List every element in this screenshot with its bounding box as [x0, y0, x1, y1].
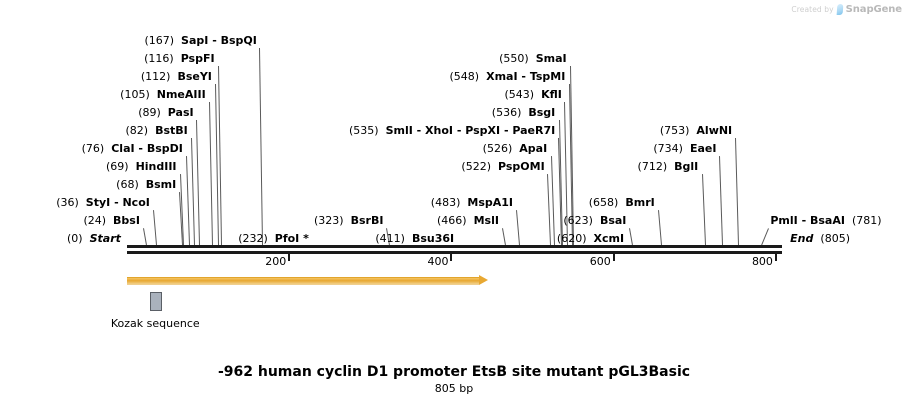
enzyme-name: XmaI — [486, 70, 517, 83]
enzyme-name: BsrBI — [351, 214, 384, 227]
enzyme-name: ApaI — [519, 142, 547, 155]
enzyme-name: TspMI — [530, 70, 566, 83]
site-label-PfoI[interactable]: (232) PfoI * — [238, 233, 309, 245]
site-connector-line — [209, 102, 213, 245]
ruler-tick-600 — [613, 254, 615, 261]
site-position: (712) — [638, 160, 668, 173]
site-label-ApaI[interactable]: (526) ApaI — [483, 143, 548, 155]
enzyme-name: BsgI — [528, 106, 555, 119]
enzyme-name: HindIII — [136, 160, 177, 173]
enzyme-name: ClaI — [111, 142, 134, 155]
enzyme-name: PasI — [168, 106, 194, 119]
name-separator: - — [518, 70, 530, 83]
sequence-map-canvas: Created by SnapGene (0) Start(24) BbsI(3… — [0, 0, 908, 404]
backbone-line-lower — [127, 251, 782, 254]
enzyme-name: BmrI — [625, 196, 654, 209]
enzyme-name: SmlI — [386, 124, 413, 137]
enzyme-name: BglI — [674, 160, 698, 173]
name-separator: - — [413, 124, 425, 137]
site-position: (0) — [67, 232, 83, 245]
enzyme-name: BsaI — [600, 214, 626, 227]
site-position: (116) — [144, 52, 174, 65]
enzyme-name: MspA1I — [467, 196, 513, 209]
site-connector-line — [629, 228, 633, 245]
enzyme-name: PmlI — [770, 214, 797, 227]
map-subtitle: 805 bp — [0, 382, 908, 395]
site-label-AlwNI[interactable]: (753) AlwNI — [660, 125, 732, 137]
site-label-SmlI[interactable]: (535) SmlI - XhoI - PspXI - PaeR7I — [349, 125, 555, 137]
site-position: (623) — [563, 214, 593, 227]
enzyme-name: BspDI — [147, 142, 183, 155]
enzyme-name: XhoI — [425, 124, 453, 137]
site-label-BstBI[interactable]: (82) BstBI — [126, 125, 188, 137]
site-label-SmaI[interactable]: (550) SmaI — [499, 53, 567, 65]
site-label-MspA1I[interactable]: (483) MspA1I — [431, 197, 513, 209]
enzyme-name: MslI — [474, 214, 499, 227]
enzyme-name: SmaI — [536, 52, 567, 65]
site-position: (805) — [820, 232, 850, 245]
site-label-NmeAIII[interactable]: (105) NmeAIII — [120, 89, 206, 101]
name-separator: - — [500, 124, 512, 137]
site-connector-line — [191, 138, 195, 245]
ruler-label-400: 400 — [427, 255, 448, 268]
site-label-PspFI[interactable]: (116) PspFI — [144, 53, 215, 65]
enzyme-name: PspOMI — [498, 160, 545, 173]
site-label-BsaI[interactable]: (623) BsaI — [563, 215, 626, 227]
enzyme-name: SapI — [181, 34, 208, 47]
site-connector-line — [551, 156, 555, 245]
enzyme-name: NmeAIII — [157, 88, 206, 101]
enzyme-name: PaeR7I — [512, 124, 555, 137]
enzyme-name: KflI — [541, 88, 562, 101]
site-connector-line — [196, 120, 200, 245]
site-connector-line — [516, 210, 520, 245]
site-position: (36) — [56, 196, 79, 209]
name-separator: - — [110, 196, 122, 209]
snapgene-watermark: Created by SnapGene — [791, 4, 902, 15]
enzyme-name: StyI — [86, 196, 110, 209]
enzyme-name: BsaAI — [810, 214, 845, 227]
site-position: (105) — [120, 88, 150, 101]
enzyme-name: XcmI — [594, 232, 625, 245]
site-position: (658) — [589, 196, 619, 209]
site-position: (68) — [116, 178, 139, 191]
site-position: (167) — [144, 34, 174, 47]
site-position: (232) — [238, 232, 268, 245]
site-label-BsmI[interactable]: (68) BsmI — [116, 179, 176, 191]
enzyme-name: AlwNI — [696, 124, 732, 137]
site-connector-line — [761, 228, 769, 245]
site-position: (411) — [375, 232, 405, 245]
site-position: (522) — [461, 160, 491, 173]
site-connector-line — [702, 174, 706, 245]
enzyme-name: Bsu36I — [412, 232, 454, 245]
site-connector-line — [153, 210, 157, 245]
site-position: (548) — [450, 70, 480, 83]
site-label-BseYI[interactable]: (112) BseYI — [141, 71, 212, 83]
site-connector-line — [259, 48, 263, 245]
site-label-ClaI[interactable]: (76) ClaI - BspDI — [82, 143, 183, 155]
site-position: (734) — [653, 142, 683, 155]
enzyme-name: BstBI — [155, 124, 188, 137]
ruler-label-800: 800 — [752, 255, 773, 268]
site-connector-line — [547, 174, 551, 245]
map-title: -962 human cyclin D1 promoter EtsB site … — [0, 364, 908, 380]
site-position: (89) — [138, 106, 161, 119]
site-position: (543) — [504, 88, 534, 101]
site-label-BbsI[interactable]: (24) BbsI — [83, 215, 140, 227]
site-position: (112) — [141, 70, 171, 83]
site-label-XmaI[interactable]: (548) XmaI - TspMI — [450, 71, 566, 83]
ruler-label-600: 600 — [590, 255, 611, 268]
site-label-KflI[interactable]: (543) KflI — [504, 89, 561, 101]
site-label-PmlI[interactable]: PmlI - BsaAI (781) — [770, 215, 881, 227]
feature-promoter-arrow[interactable] — [127, 276, 488, 284]
feature-arrow-body — [127, 277, 479, 285]
site-label-BglI[interactable]: (712) BglI — [638, 161, 699, 173]
enzyme-name: NcoI — [122, 196, 149, 209]
enzyme-name: PspXI — [465, 124, 500, 137]
enzyme-name: End — [790, 232, 813, 245]
site-position: (466) — [437, 214, 467, 227]
enzyme-name: BbsI — [113, 214, 140, 227]
ruler-tick-200 — [288, 254, 290, 261]
site-label-Start[interactable]: (0) Start — [67, 233, 121, 245]
site-position: (753) — [660, 124, 690, 137]
enzyme-name: PspFI — [181, 52, 215, 65]
feature-arrow-head-icon — [479, 275, 488, 285]
site-label-MslI[interactable]: (466) MslI — [437, 215, 499, 227]
site-connector-line — [186, 156, 190, 245]
name-separator: - — [798, 214, 810, 227]
site-label-BsgI[interactable]: (536) BsgI — [492, 107, 556, 119]
kozak-sequence-marker[interactable] — [150, 292, 162, 311]
site-connector-line — [502, 228, 506, 245]
site-label-BmrI[interactable]: (658) BmrI — [589, 197, 655, 209]
site-label-Bsu36I[interactable]: (411) Bsu36I — [375, 233, 454, 245]
site-position: (69) — [106, 160, 129, 173]
ruler-label-200: 200 — [265, 255, 286, 268]
ruler-tick-400 — [450, 254, 452, 261]
site-position: (526) — [483, 142, 513, 155]
backbone-line-upper — [127, 245, 782, 248]
site-position: (323) — [314, 214, 344, 227]
site-label-XcmI[interactable]: (620) XcmI — [557, 233, 624, 245]
kozak-sequence-label: Kozak sequence — [111, 317, 200, 330]
enzyme-name: BspQI — [221, 34, 257, 47]
name-separator: - — [135, 142, 147, 155]
site-label-SapI[interactable]: (167) SapI - BspQI — [144, 35, 256, 47]
site-position: (82) — [126, 124, 149, 137]
site-label-BsrBI[interactable]: (323) BsrBI — [314, 215, 383, 227]
enzyme-name: EaeI — [690, 142, 717, 155]
site-connector-line — [658, 210, 662, 245]
site-label-PasI[interactable]: (89) PasI — [138, 107, 193, 119]
site-label-PspOMI[interactable]: (522) PspOMI — [461, 161, 544, 173]
watermark-brand-label: SnapGene — [846, 4, 902, 15]
site-connector-line — [735, 138, 739, 245]
site-position: (781) — [852, 214, 882, 227]
site-label-HindIII[interactable]: (69) HindIII — [106, 161, 177, 173]
watermark-created-by-label: Created by — [791, 5, 833, 14]
enzyme-name: Start — [90, 232, 121, 245]
enzyme-name: PfoI * — [275, 232, 309, 245]
site-position: (620) — [557, 232, 587, 245]
site-position: (483) — [431, 196, 461, 209]
site-label-End[interactable]: End (805) — [790, 233, 850, 245]
site-connector-line — [719, 156, 723, 245]
site-position: (536) — [492, 106, 522, 119]
snapgene-logo-icon — [836, 4, 843, 15]
ruler-tick-800 — [775, 254, 777, 261]
enzyme-name: BsmI — [146, 178, 177, 191]
site-position: (24) — [83, 214, 106, 227]
site-position: (550) — [499, 52, 529, 65]
enzyme-name: BseYI — [177, 70, 211, 83]
site-position: (535) — [349, 124, 379, 137]
site-label-StyI[interactable]: (36) StyI - NcoI — [56, 197, 150, 209]
site-position: (76) — [82, 142, 105, 155]
site-connector-line — [143, 228, 147, 245]
name-separator: - — [453, 124, 465, 137]
site-connector-line — [218, 66, 222, 245]
site-label-EaeI[interactable]: (734) EaeI — [653, 143, 716, 155]
name-separator: - — [208, 34, 220, 47]
